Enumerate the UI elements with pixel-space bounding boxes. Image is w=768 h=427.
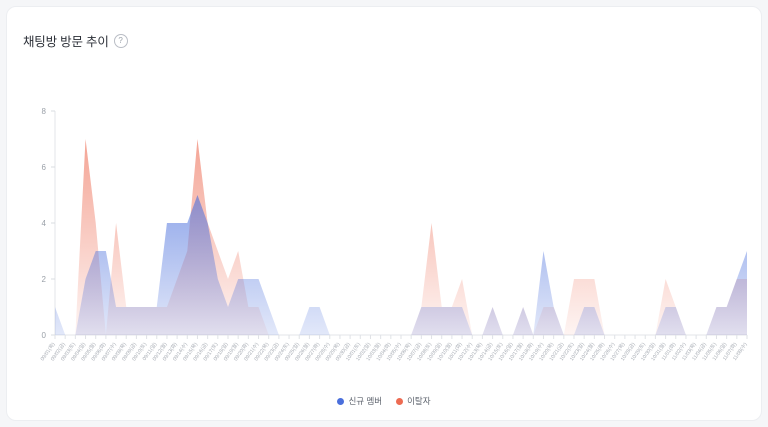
y-axis: 02468 <box>42 107 55 340</box>
svg-text:2: 2 <box>42 275 47 284</box>
legend-label-churned: 이탈자 <box>407 395 430 407</box>
svg-text:0: 0 <box>42 331 47 340</box>
series-layer <box>55 139 747 335</box>
chart-legend: 신규 멤버 이탈자 <box>7 395 761 407</box>
legend-dot-churned <box>396 398 403 405</box>
chart-card: 채팅방 방문 추이 ? 02468 09/01(목)09/02(금)09/03(… <box>6 6 762 421</box>
legend-item-churned[interactable]: 이탈자 <box>396 395 430 407</box>
svg-text:6: 6 <box>42 163 47 172</box>
area-chart: 02468 09/01(목)09/02(금)09/03(토)09/04(일)09… <box>7 7 763 422</box>
series-area-new-members <box>55 195 747 335</box>
x-axis: 09/01(목)09/02(금)09/03(토)09/04(일)09/05(월)… <box>40 335 749 362</box>
legend-label-new-members: 신규 멤버 <box>348 395 382 407</box>
svg-text:8: 8 <box>42 107 47 116</box>
legend-item-new-members[interactable]: 신규 멤버 <box>337 395 382 407</box>
legend-dot-new-members <box>337 398 344 405</box>
svg-text:4: 4 <box>42 219 47 228</box>
